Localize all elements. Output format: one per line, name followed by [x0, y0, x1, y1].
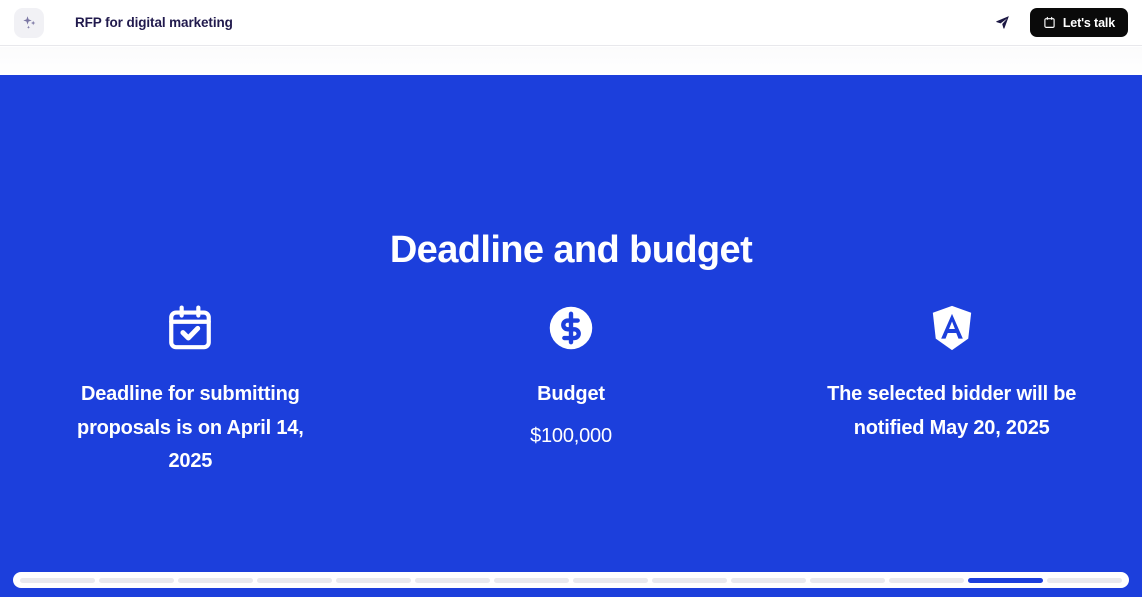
slide-nav-segment[interactable] [415, 578, 490, 583]
send-button[interactable] [990, 10, 1016, 36]
send-plane-icon [994, 14, 1011, 31]
slide-progress-bar[interactable] [13, 572, 1129, 588]
slide-nav-segment[interactable] [731, 578, 806, 583]
slide-nav-segment[interactable] [178, 578, 253, 583]
lets-talk-label: Let's talk [1063, 16, 1115, 30]
sparkle-icon [21, 14, 38, 31]
column-budget-subtext: $100,000 [439, 420, 704, 454]
column-notification: The selected bidder will be notified May… [761, 300, 1142, 479]
slide-nav-segment[interactable] [810, 578, 885, 583]
lets-talk-button[interactable]: Let's talk [1030, 8, 1128, 37]
slide-title: Deadline and budget [0, 230, 1142, 272]
header-gap-strip [0, 47, 1142, 75]
slide-columns: Deadline for submitting proposals is on … [0, 300, 1142, 479]
calendar-check-icon [165, 300, 215, 356]
top-bar: RFP for digital marketing Let's talk [0, 0, 1142, 46]
document-title: RFP for digital marketing [75, 15, 233, 30]
slide-nav-segment-active[interactable] [968, 578, 1043, 583]
slide-nav-segment[interactable] [573, 578, 648, 583]
slide-nav-segment[interactable] [257, 578, 332, 583]
column-budget-text: Budget [484, 378, 659, 412]
calendar-icon [1043, 16, 1056, 29]
angular-shield-icon [927, 300, 977, 356]
column-deadline-text: Deadline for submitting proposals is on … [58, 378, 323, 479]
column-budget: Budget $100,000 [381, 300, 762, 479]
slide-nav-segment[interactable] [20, 578, 95, 583]
slide-nav-segment[interactable] [652, 578, 727, 583]
slide-nav-segment[interactable] [1047, 578, 1122, 583]
sparkle-icon-button[interactable] [14, 8, 44, 38]
slide-nav-segment[interactable] [494, 578, 569, 583]
slide-canvas: Deadline and budget Deadline for submitt… [0, 75, 1142, 597]
dollar-circle-icon [546, 300, 596, 356]
slide-nav-segment[interactable] [336, 578, 411, 583]
column-notification-text: The selected bidder will be notified May… [819, 378, 1084, 445]
column-deadline: Deadline for submitting proposals is on … [0, 300, 381, 479]
slide-nav-segment[interactable] [889, 578, 964, 583]
slide-nav-segment[interactable] [99, 578, 174, 583]
